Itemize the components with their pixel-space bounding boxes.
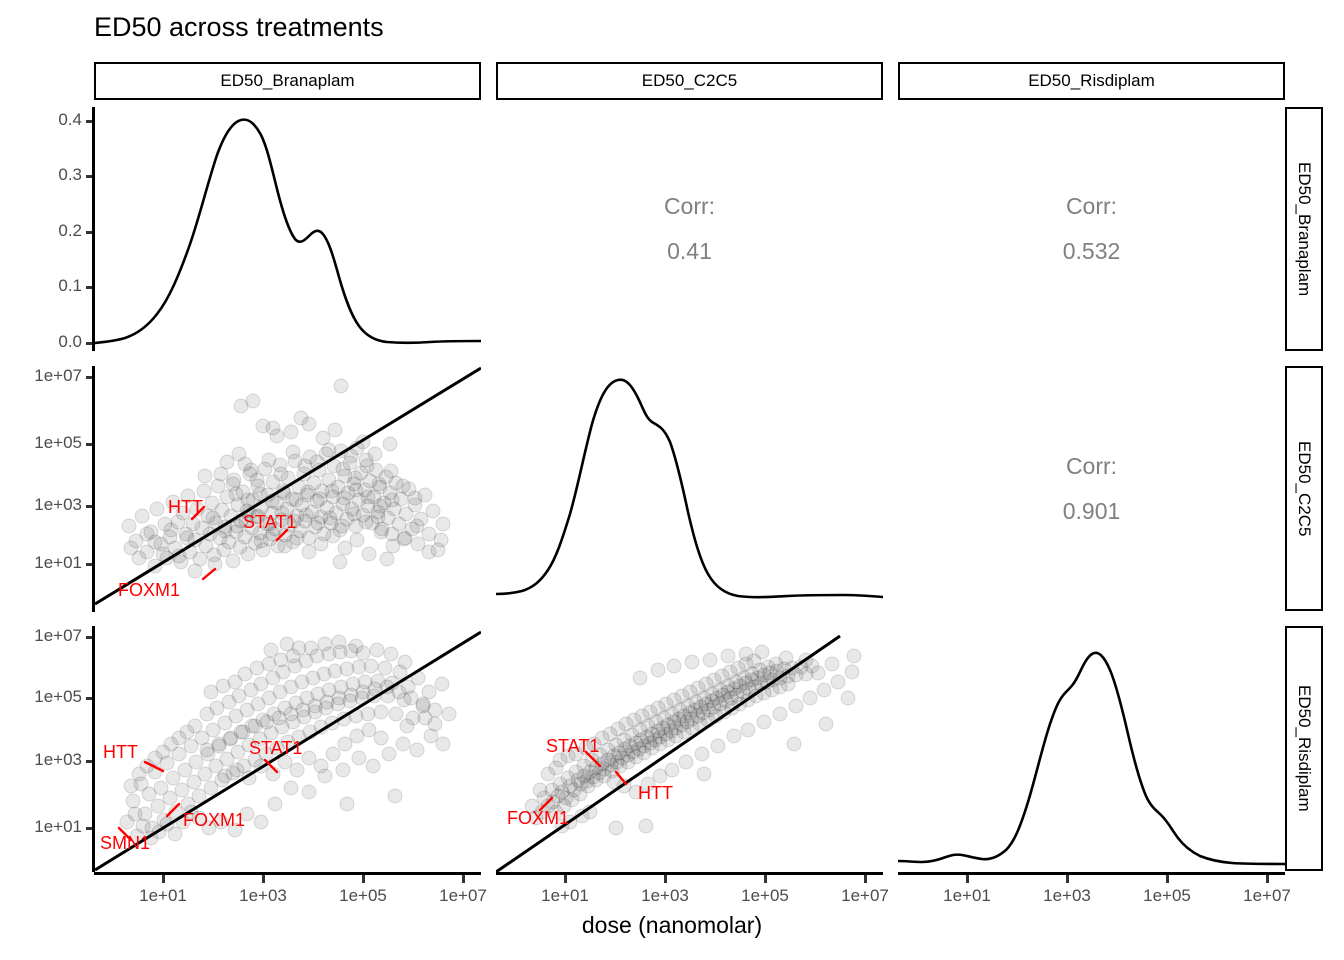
y-tick-label: 1e+03: [12, 750, 82, 770]
x-tick-mark: [764, 875, 767, 883]
corr-panel-c2c5-risdiplam: Corr: 0.901: [898, 366, 1285, 612]
x-tick-label: 1e+07: [825, 886, 905, 906]
x-tick-label: 1e+01: [123, 886, 203, 906]
y-tick-label: 0.4: [20, 110, 82, 130]
column-strip-label: ED50_C2C5: [642, 71, 737, 91]
gene-label-foxm1: FOXM1: [118, 580, 180, 601]
y-tick-label: 1e+05: [12, 687, 82, 707]
column-strip-label: ED50_Risdiplam: [1028, 71, 1155, 91]
x-axis-label: dose (nanomolar): [0, 912, 1344, 939]
corr-value: 0.41: [667, 229, 712, 274]
x-tick-label: 1e+03: [1027, 886, 1107, 906]
y-tick-label: 1e+03: [12, 495, 82, 515]
gene-label-smn1: SMN1: [100, 833, 150, 854]
row-strip-c2c5: ED50_C2C5: [1285, 366, 1323, 611]
y-tick-label: 1e+07: [12, 626, 82, 646]
x-tick-mark: [664, 875, 667, 883]
x-tick-label: 1e+05: [1127, 886, 1207, 906]
identity-line: [95, 368, 481, 604]
x-tick-label: 1e+07: [1227, 886, 1307, 906]
x-tick-label: 1e+01: [927, 886, 1007, 906]
density-curve: [496, 380, 883, 597]
gene-label-foxm1: FOXM1: [183, 810, 245, 831]
y-tick-label: 1e+01: [12, 817, 82, 837]
corr-label: Corr:: [1066, 184, 1117, 229]
scatter-points: [122, 379, 450, 578]
x-tick-label: 1e+01: [525, 886, 605, 906]
gene-label-stat1: STAT1: [243, 512, 296, 533]
gene-label-foxm1: FOXM1: [507, 808, 569, 829]
corr-label: Corr:: [1066, 444, 1117, 489]
row-strip-label: ED50_C2C5: [1294, 441, 1314, 536]
x-tick-mark: [162, 875, 165, 883]
x-axis-line: [94, 872, 481, 875]
density-curve: [95, 120, 481, 343]
gene-label-stat1: STAT1: [249, 738, 302, 759]
gene-label-htt: HTT: [638, 783, 673, 804]
corr-panel-branaplam-c2c5: Corr: 0.41: [496, 107, 883, 351]
page-title: ED50 across treatments: [94, 12, 384, 43]
x-tick-label: 1e+05: [323, 886, 403, 906]
panel-density-risdiplam: [898, 626, 1285, 872]
corr-value: 0.532: [1063, 229, 1121, 274]
x-tick-label: 1e+03: [625, 886, 705, 906]
panel-density-branaplam: [95, 107, 481, 351]
y-tick-label: 0.1: [20, 276, 82, 296]
y-tick-label: 0.3: [20, 165, 82, 185]
x-axis-line: [898, 872, 1285, 875]
x-tick-mark: [1266, 875, 1269, 883]
column-strip-branaplam: ED50_Branaplam: [94, 62, 481, 100]
row-strip-risdiplam: ED50_Risdiplam: [1285, 626, 1323, 871]
x-tick-mark: [966, 875, 969, 883]
row-strip-branaplam: ED50_Branaplam: [1285, 107, 1323, 351]
y-tick-label: 1e+01: [12, 553, 82, 573]
row-strip-label: ED50_Risdiplam: [1294, 685, 1314, 812]
density-curve: [898, 653, 1285, 864]
y-tick-label: 1e+05: [12, 433, 82, 453]
x-tick-mark: [462, 875, 465, 883]
x-tick-mark: [362, 875, 365, 883]
x-axis-line: [496, 872, 883, 875]
row-strip-label: ED50_Branaplam: [1294, 162, 1314, 296]
gene-label-htt: HTT: [103, 742, 138, 763]
y-tick-label: 1e+07: [12, 366, 82, 386]
corr-label: Corr:: [664, 184, 715, 229]
column-strip-risdiplam: ED50_Risdiplam: [898, 62, 1285, 100]
y-tick-label: 0.0: [20, 332, 82, 352]
y-tick-label: 0.2: [20, 221, 82, 241]
x-tick-mark: [1066, 875, 1069, 883]
x-tick-label: 1e+03: [223, 886, 303, 906]
x-tick-mark: [1166, 875, 1169, 883]
panel-density-c2c5: [496, 366, 883, 612]
gene-label-htt: HTT: [168, 497, 203, 518]
panel-scatter-branaplam-c2c5: [95, 366, 481, 612]
corr-panel-branaplam-risdiplam: Corr: 0.532: [898, 107, 1285, 351]
column-strip-label: ED50_Branaplam: [220, 71, 354, 91]
gene-label-stat1: STAT1: [546, 736, 599, 757]
x-tick-mark: [864, 875, 867, 883]
x-tick-mark: [262, 875, 265, 883]
x-tick-label: 1e+07: [423, 886, 503, 906]
x-tick-label: 1e+05: [725, 886, 805, 906]
column-strip-c2c5: ED50_C2C5: [496, 62, 883, 100]
corr-value: 0.901: [1063, 489, 1121, 534]
pairs-plot-figure: ED50 across treatments ED50_Branaplam ED…: [0, 0, 1344, 960]
x-tick-mark: [564, 875, 567, 883]
